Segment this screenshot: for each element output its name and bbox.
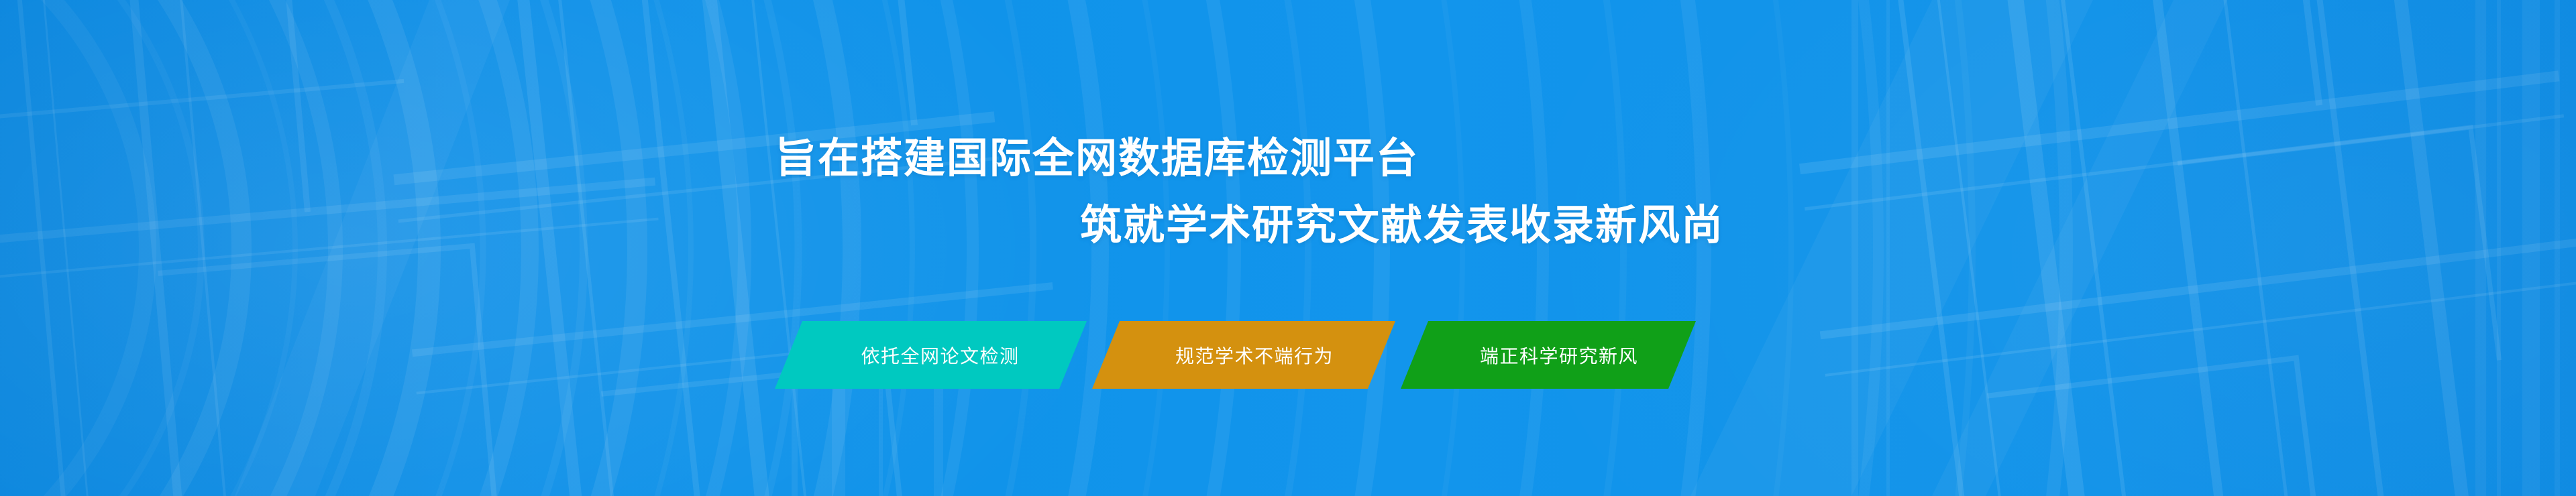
background-vignette (0, 0, 2576, 496)
headline-line-2: 筑就学术研究文献发表收录新风尚 (1080, 205, 1724, 247)
diagonal-bands (235, 0, 2227, 496)
concentric-arcs (0, 0, 2066, 496)
background-pattern-svg (0, 0, 2576, 496)
hero-banner: 旨在搭建国际全网数据库检测平台 筑就学术研究文献发表收录新风尚 依托全网论文检测… (0, 0, 2576, 496)
feature-badge-paper-detection[interactable]: 依托全网论文检测 (775, 321, 1087, 389)
grid-lines-left (0, 0, 688, 496)
feature-badge-row: 依托全网论文检测 规范学术不端行为 端正科学研究新风 (0, 321, 2576, 389)
feature-badge-research-integrity[interactable]: 端正科学研究新风 (1401, 321, 1696, 389)
headline-line-1: 旨在搭建国际全网数据库检测平台 (775, 138, 1419, 180)
background-decoration (0, 0, 2576, 496)
grid-lines-center (368, 0, 1085, 496)
background-glow (0, 0, 2576, 496)
feature-badge-paper-detection-label: 依托全网论文检测 (861, 342, 1019, 369)
vertical-streaks (792, 0, 2560, 496)
feature-badge-academic-misconduct-label: 规范学术不端行为 (1175, 342, 1334, 369)
feature-badge-academic-misconduct[interactable]: 规范学术不端行为 (1092, 321, 1395, 389)
feature-badge-research-integrity-label: 端正科学研究新风 (1480, 342, 1638, 369)
headline-block: 旨在搭建国际全网数据库检测平台 筑就学术研究文献发表收录新风尚 (0, 0, 2576, 496)
grid-lines-right (1770, 0, 2576, 496)
